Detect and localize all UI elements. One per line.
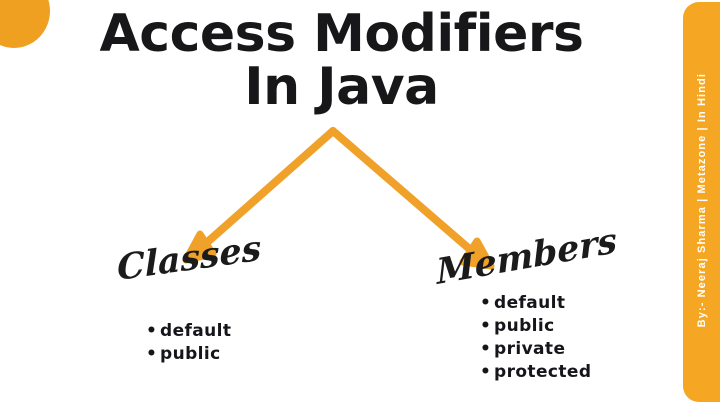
credit-byline: By:- Neeraj Sharma | Metazone | In Hindi (696, 73, 708, 327)
slide-canvas: Access Modifiers In Java Classes Members… (0, 0, 720, 404)
page-title: Access Modifiers In Java (0, 8, 683, 114)
branch-label-classes: Classes (117, 228, 262, 289)
list-item: default (480, 292, 591, 315)
title-line-1: Access Modifiers (0, 8, 683, 61)
title-line-2: In Java (0, 61, 683, 114)
classes-modifier-list: default public (146, 320, 231, 366)
members-modifier-list: default public private protected (480, 292, 591, 384)
credit-text-wrap: By:- Neeraj Sharma | Metazone | In Hindi (683, 0, 720, 400)
branch-label-members: Members (435, 220, 618, 293)
list-item: default (146, 320, 231, 343)
list-item: public (480, 315, 591, 338)
list-item: public (146, 343, 231, 366)
list-item: private (480, 338, 591, 361)
list-item: protected (480, 361, 591, 384)
